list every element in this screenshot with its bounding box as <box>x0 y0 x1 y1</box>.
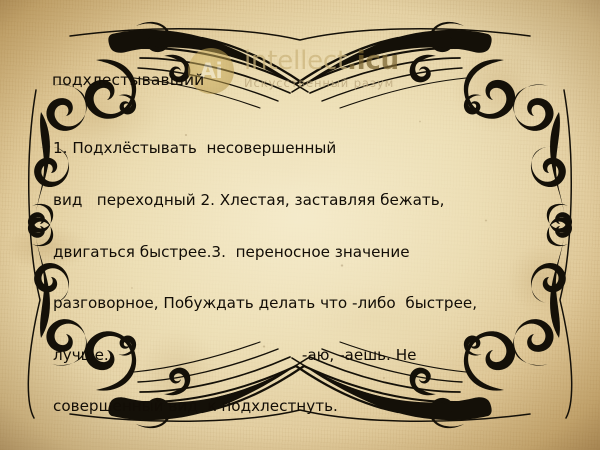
frame-left-rule <box>28 90 40 418</box>
watermark-subtitle: Искусственный разум <box>244 76 399 90</box>
definition-line: лучше. -аю, -аешь. Не <box>53 347 563 364</box>
definition-line: совершенный вид к подхлестнуть. <box>53 398 563 415</box>
definition-line: двигаться быстрее.3. переносное значение <box>53 244 563 261</box>
watermark: Ai intellect.icu Искусственный разум <box>188 46 399 94</box>
definition-text: 1. Подхлёстывать несовершенный вид перех… <box>53 106 563 450</box>
watermark-brand-name: intellect <box>244 46 347 76</box>
definition-line: 1. Подхлёстывать несовершенный <box>53 140 563 157</box>
dictionary-card: Ai intellect.icu Искусственный разум под… <box>0 0 600 450</box>
watermark-wordmark: intellect.icu Искусственный разум <box>244 48 399 90</box>
watermark-brand-tld: .icu <box>347 46 399 76</box>
definition-line: разговорное, Побуждать делать что -либо … <box>53 295 563 312</box>
frame-top-rule <box>70 29 530 40</box>
headword: подхлестывавший <box>52 71 204 89</box>
watermark-brand: intellect.icu <box>244 48 399 75</box>
definition-line: вид переходный 2. Хлестая, заставляя беж… <box>53 192 563 209</box>
